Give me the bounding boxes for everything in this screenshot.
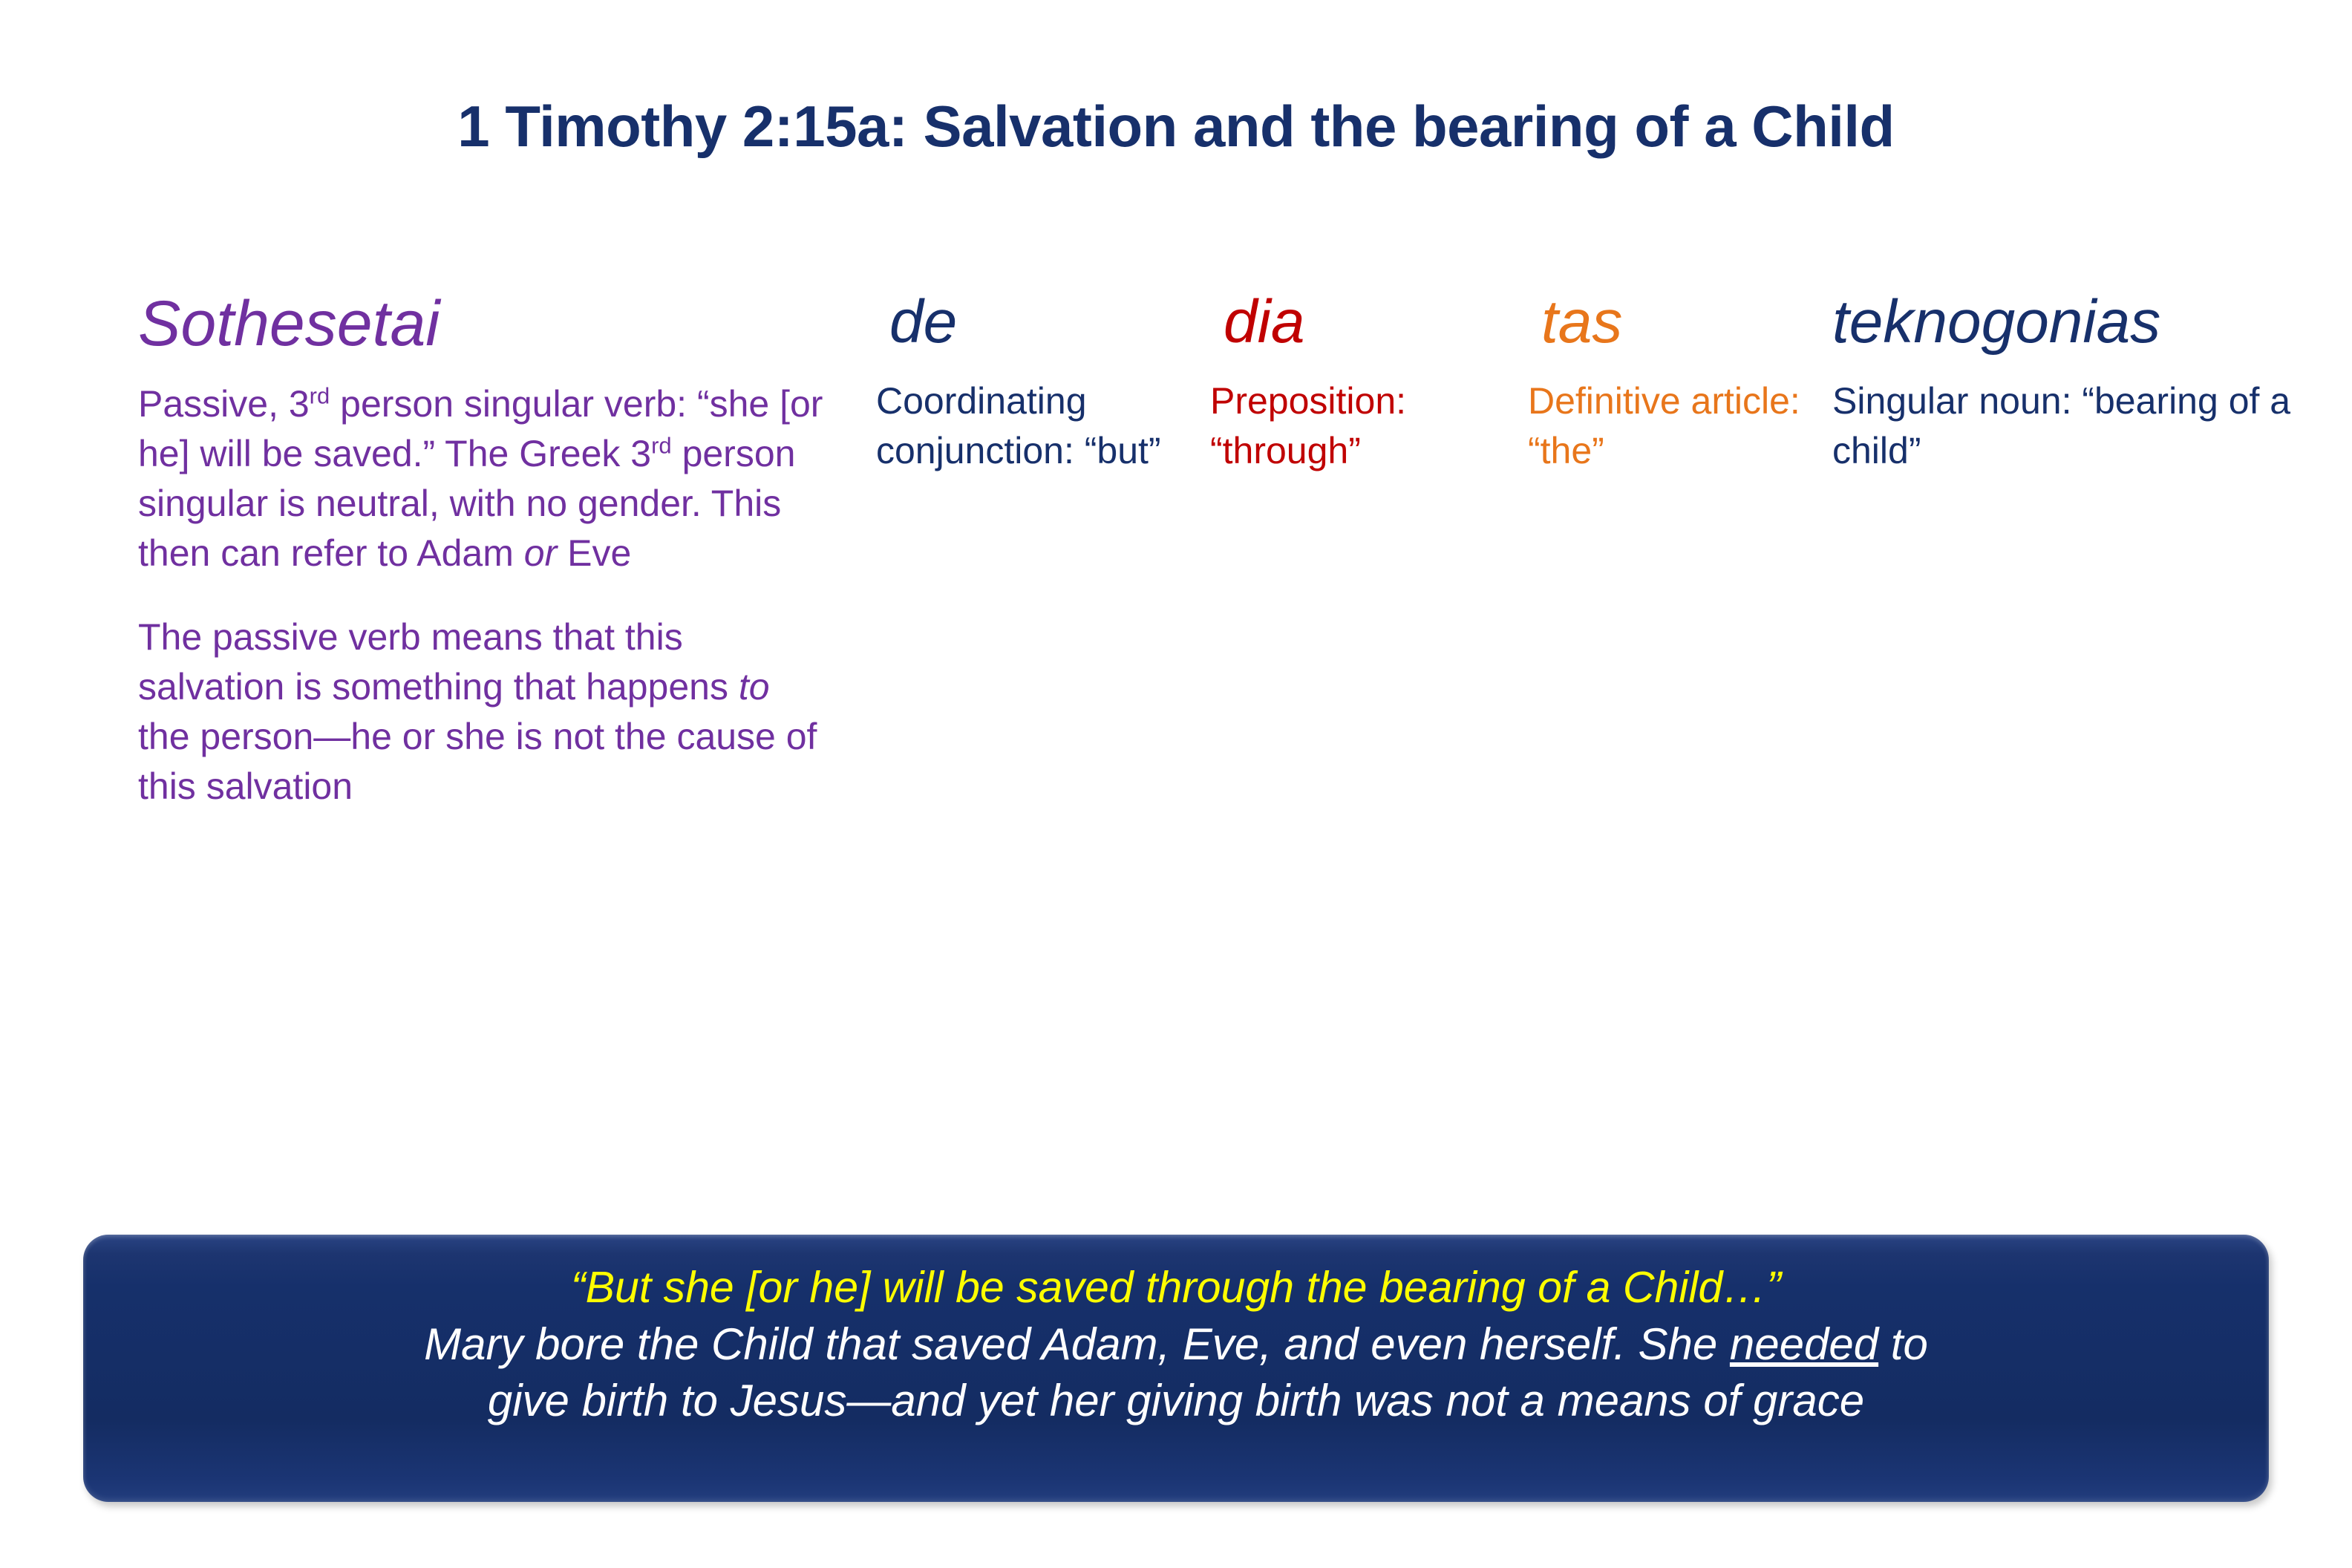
column-body-sothesetai: Passive, 3rd person singular verb: “she …	[138, 379, 829, 811]
headword-de: de	[889, 290, 1173, 356]
emphasis-or: or	[524, 532, 557, 574]
column-body-tas: Definitive article: “the”	[1528, 376, 1817, 476]
headword-dia: dia	[1224, 290, 1515, 356]
page-title: 1 Timothy 2:15a: Salvation and the beari…	[0, 95, 2352, 159]
paragraph: Definitive article: “the”	[1528, 376, 1817, 476]
headword-teknogonias: teknogonias	[1832, 290, 2293, 356]
callout-line-mary: Mary bore the Child that saved Adam, Eve…	[116, 1316, 2236, 1373]
text-segment: Mary bore the Child that saved Adam, Eve…	[424, 1319, 1730, 1369]
callout-line-grace: give birth to Jesus—and yet her giving b…	[116, 1373, 2236, 1430]
ordinal-suffix: rd	[651, 432, 672, 458]
summary-callout-box: “But she [or he] will be saved through t…	[83, 1235, 2269, 1502]
underlined-needed: needed	[1730, 1319, 1878, 1369]
column-tas: tas Definitive article: “the”	[1528, 290, 1817, 476]
paragraph: Preposition: “through”	[1210, 376, 1515, 476]
slide-root: 1 Timothy 2:15a: Salvation and the beari…	[0, 0, 2352, 1568]
column-teknogonias: teknogonias Singular noun: “bearing of a…	[1832, 290, 2293, 476]
text-segment: the person—he or she is not the cause of…	[138, 716, 817, 807]
text-segment: Eve	[557, 532, 631, 574]
column-dia: dia Preposition: “through”	[1210, 290, 1515, 476]
column-de: de Coordinating conjunction: “but”	[876, 290, 1173, 476]
text-segment: The passive verb means that this salvati…	[138, 616, 739, 708]
column-sothesetai: Sothesetai Passive, 3rd person singular …	[138, 290, 829, 811]
text-segment: to	[1878, 1319, 1928, 1369]
headword-sothesetai: Sothesetai	[138, 290, 829, 359]
word-analysis-columns: Sothesetai Passive, 3rd person singular …	[0, 290, 2352, 1203]
paragraph: Coordinating conjunction: “but”	[876, 376, 1173, 476]
headword-tas: tas	[1541, 290, 1817, 356]
text-segment: Passive, 3	[138, 383, 310, 425]
paragraph: The passive verb means that this salvati…	[138, 612, 829, 811]
callout-line-quote: “But she [or he] will be saved through t…	[116, 1260, 2236, 1316]
column-body-teknogonias: Singular noun: “bearing of a child”	[1832, 376, 2293, 476]
paragraph: Singular noun: “bearing of a child”	[1832, 376, 2293, 476]
column-body-de: Coordinating conjunction: “but”	[876, 376, 1173, 476]
column-body-dia: Preposition: “through”	[1210, 376, 1515, 476]
ordinal-suffix: rd	[310, 382, 330, 408]
paragraph: Passive, 3rd person singular verb: “she …	[138, 379, 829, 578]
emphasis-to: to	[739, 666, 770, 708]
